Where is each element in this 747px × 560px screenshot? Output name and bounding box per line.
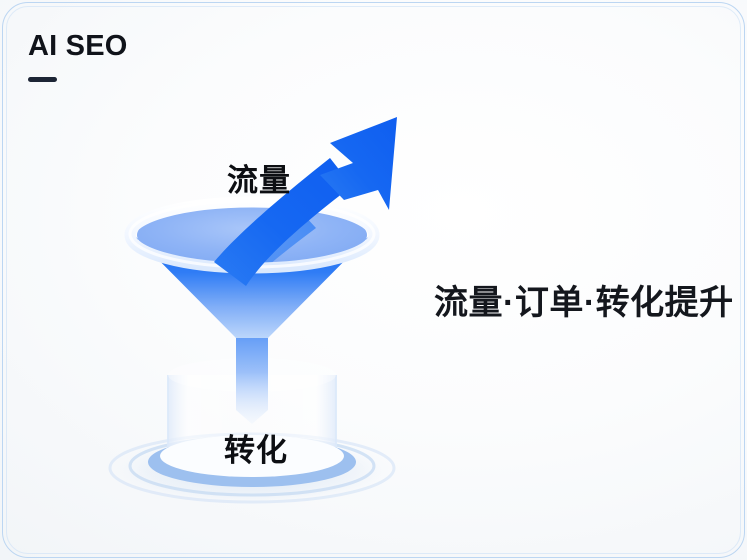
slide-canvas: AI SEO: [0, 0, 747, 560]
title-underline-rule: [28, 77, 57, 82]
tagline-text: 流量·订单·转化提升: [434, 275, 734, 324]
funnel-label-conversion: 转化: [224, 425, 288, 470]
page-title: AI SEO: [28, 32, 128, 61]
brand-header: AI SEO: [28, 32, 128, 82]
funnel-label-traffic: 流量: [227, 155, 291, 200]
funnel-stem: [236, 330, 268, 424]
